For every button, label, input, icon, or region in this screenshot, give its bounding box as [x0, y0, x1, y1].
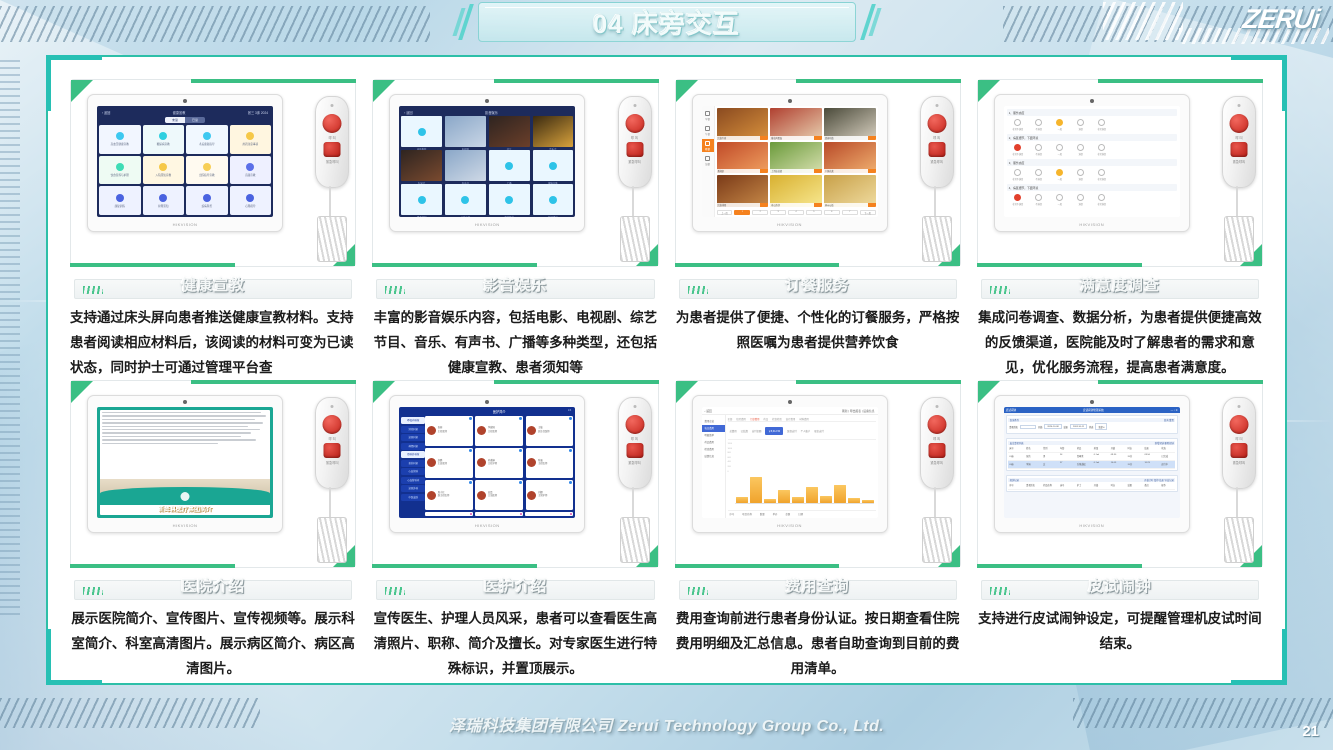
content-panel: ‹ 返回健康宣教张三 3床 2024 未读已读 高血压健康宣教 糖尿病宣教 术后…	[46, 55, 1287, 685]
handset-coil	[922, 216, 952, 262]
card-caption: 医院介绍	[70, 574, 356, 600]
handset-emergency-label: 紧急呼叫	[316, 460, 348, 465]
sidebar-item[interactable]: 费用总览	[702, 418, 725, 425]
dish-item[interactable]: 干锅花菜	[824, 142, 876, 174]
handset-emergency-label: 紧急呼叫	[619, 460, 651, 465]
tile[interactable]: 疾病科普	[186, 186, 228, 215]
survey-question: 3、服务态度	[1007, 159, 1177, 166]
handset-coil	[1224, 517, 1254, 563]
handset-call-label: 呼 叫	[316, 135, 348, 140]
meal-pager: 上一页 1 2 3 4 5 6 7 下一页	[717, 209, 876, 215]
card-description: 费用查询前进行患者身份认证。按日期查看住院费用明细及汇总信息。患者自助查询到目前…	[675, 606, 961, 681]
survey-option[interactable]: 非常不满意	[1011, 144, 1025, 156]
card-edge-top	[494, 380, 659, 384]
nurse-call-handset: 呼 叫 紧急呼叫	[315, 96, 349, 268]
tile[interactable]: 综艺	[489, 116, 530, 147]
handset-led-icon	[633, 405, 636, 408]
card-caption: 满意度调查	[977, 273, 1263, 299]
handset-cord	[1236, 487, 1238, 521]
survey-option[interactable]: 非常满意	[1095, 119, 1109, 131]
dish-item[interactable]: 清蒸时蔬	[824, 108, 876, 140]
device-brand: HIKVISION	[475, 222, 500, 227]
device-card: 皮试闹钟皮试闹钟管理系统— ▫ ✕ 查询条件查询 重置 患者姓名 开始2024-…	[977, 380, 1263, 568]
card-edge-top	[494, 79, 659, 83]
device-illustration: 新绛县医疗集团简介 HIKVISION 呼 叫 紧急呼叫	[81, 391, 345, 559]
handset-cord	[934, 487, 936, 521]
survey-option[interactable]: 不满意	[1032, 144, 1046, 156]
survey-options: 非常不满意 不满意 一般 满意 非常满意	[1007, 117, 1177, 134]
survey-options: 非常不满意 不满意 一般 满意 非常满意	[1007, 167, 1177, 184]
device-brand: HIKVISION	[777, 523, 802, 528]
handset-call-button[interactable]	[625, 415, 644, 434]
device-illustration: 早餐 午餐 晚餐 加餐 红烧牛肉 番茄鸡蛋面 清蒸时蔬	[686, 90, 950, 258]
survey-option[interactable]: 不满意	[1032, 169, 1046, 181]
device-illustration: ‹ 返回刷新 | 导出报表 | 设备信息 费用总览 每日费用 明细清单 药品费用…	[686, 391, 950, 559]
handset-led-icon	[1238, 104, 1241, 107]
tile[interactable]: 纪录片	[401, 150, 442, 181]
page-footer: 泽瑞科技集团有限公司 Zerui Technology Group Co., L…	[0, 686, 1333, 750]
tile[interactable]: 音频宣教	[230, 156, 272, 185]
hospital-intro-ui: 新绛县医疗集团简介	[97, 407, 273, 518]
card-caption: 费用查询	[675, 574, 961, 600]
sidebar-item[interactable]: 药品费用	[702, 439, 725, 446]
title-banner: 04 床旁交互	[452, 2, 882, 42]
health-education-ui: ‹ 返回健康宣教张三 3床 2024 未读已读 高血压健康宣教 糖尿病宣教 术后…	[97, 106, 273, 217]
pager-page[interactable]: 3	[770, 210, 786, 215]
pager-page[interactable]: 1	[734, 210, 750, 215]
handset-emergency-button[interactable]	[626, 142, 643, 157]
app-top-bar: ‹ 返回刷新 | 导出报表 | 设备信息	[702, 407, 878, 415]
card-caption-banner: 订餐服务	[675, 273, 961, 299]
handset-call-button[interactable]	[927, 415, 946, 434]
card-edge-bottom	[372, 564, 537, 568]
device-card: 1、服务态度 非常不满意 不满意 一般 满意 非常满意 2、病区细节，下面环境	[977, 79, 1263, 267]
pager-page[interactable]: 7	[842, 210, 858, 215]
card-description: 宣传医生、护理人员风采，患者可以查看医生高清照片、职称、简介及擅长。对专家医生进…	[372, 606, 658, 681]
device-brand: HIKVISION	[475, 523, 500, 528]
doctor-card[interactable]: 吴磊主治医师	[475, 480, 523, 510]
tile[interactable]: 儿童节目	[445, 184, 486, 215]
tile[interactable]: 用药注意事项	[230, 125, 272, 154]
device-card: 呼吸内科室 消化科室 泌尿科室 神经科室 骨科外科室 普外科室 心血管科 心血管…	[372, 380, 658, 568]
device-card: 早餐 午餐 晚餐 加餐 红烧牛肉 番茄鸡蛋面 清蒸时蔬	[675, 79, 961, 267]
hatch-stripe-left-edge	[0, 60, 20, 620]
handset-led-icon	[935, 405, 938, 408]
tile[interactable]: 有声书	[445, 150, 486, 181]
pager-page[interactable]: 2	[752, 210, 768, 215]
survey-option[interactable]: 非常不满意	[1011, 194, 1025, 206]
card-edge-bottom	[675, 564, 840, 568]
table-header-row: 序号患者姓名药品名称床号护士开始时长结果备注操作	[1008, 482, 1175, 490]
survey-option[interactable]: 满意	[1074, 194, 1088, 206]
dish-item[interactable]: 香辣虾	[717, 142, 769, 174]
dept-item[interactable]: 泌尿外科	[401, 485, 425, 492]
handset-emergency-button[interactable]	[324, 443, 341, 458]
meal-main: 红烧牛肉 番茄鸡蛋面 清蒸时蔬 香辣虾 上汤娃娃菜 干锅花菜 红烧排骨 南瓜浓汤	[715, 106, 878, 217]
survey-option[interactable]: 非常满意	[1095, 169, 1109, 181]
handset-cord	[632, 487, 634, 521]
card-edge-bottom	[977, 263, 1142, 267]
meal-sidebar: 早餐 午餐 晚餐 加餐	[702, 106, 715, 217]
pager-prev[interactable]: 上一页	[717, 210, 733, 215]
tablet-screen: 1、服务态度 非常不满意 不满意 一般 满意 非常满意 2、病区细节，下面环境	[1004, 106, 1180, 217]
device-illustration: 1、服务态度 非常不满意 不满意 一般 满意 非常满意 2、病区细节，下面环境	[988, 90, 1252, 258]
query-fields: 患者姓名 开始2024-10-08 结束2024-10-11 状态全部 ▾	[1008, 422, 1175, 432]
card-caption-banner: 费用查询	[675, 574, 961, 600]
handset-emergency-label: 紧急呼叫	[316, 159, 348, 164]
bedside-tablet: ‹ 返回影音娱乐 电影推荐 电视剧 综艺 音乐会 纪录片 有声书 广播 健康宣	[389, 94, 585, 232]
page-title: 04 床旁交互	[593, 4, 740, 41]
tile[interactable]: 电影推荐	[401, 116, 442, 147]
device-card: 新绛县医疗集团简介 HIKVISION 呼 叫 紧急呼叫	[70, 380, 356, 568]
card-description: 丰富的影音娱乐内容，包括电影、电视剧、综艺节目、音乐、有声书、广播等多种类型，还…	[372, 305, 658, 380]
education-tiles: 高血压健康宣教 糖尿病宣教 术后康复指导 用药注意事项 饮食营养与护理 入院须知…	[99, 125, 271, 215]
dish-item[interactable]: 红烧排骨	[717, 175, 769, 207]
sidebar-item[interactable]: 午餐	[702, 124, 714, 137]
handset-call-label: 呼 叫	[921, 436, 953, 441]
survey-option[interactable]: 满意	[1074, 119, 1088, 131]
nurse-call-handset: 呼 叫 紧急呼叫	[618, 96, 652, 268]
survey-option[interactable]: 满意	[1074, 169, 1088, 181]
pager-next[interactable]: 下一页	[860, 210, 876, 215]
tile[interactable]: 心理疏导	[230, 186, 272, 215]
nurse-call-handset: 呼 叫 紧急呼叫	[315, 397, 349, 569]
bedside-tablet: 新绛县医疗集团简介 HIKVISION	[87, 395, 283, 533]
tablet-screen: 新绛县医疗集团简介	[97, 407, 273, 518]
doctor-card[interactable]: 王敏副主任医师	[526, 416, 574, 446]
right-bracket-icon	[858, 4, 880, 40]
handset-led-icon	[331, 104, 334, 107]
tile[interactable]: 糖尿病宣教	[143, 125, 185, 154]
card-edge-top	[191, 79, 356, 83]
tile[interactable]: 健康宣教	[533, 150, 574, 181]
card-caption: 健康宣教	[70, 273, 356, 299]
window-title-bar: 皮试闹钟皮试闹钟管理系统— ▫ ✕	[1004, 407, 1180, 413]
cost-bar-chart: 120010008006004002000	[728, 440, 876, 510]
tablet-screen: 早餐 午餐 晚餐 加餐 红烧牛肉 番茄鸡蛋面 清蒸时蔬	[702, 106, 878, 217]
tablet-screen: 呼吸内科室 消化科室 泌尿科室 神经科室 骨科外科室 普外科室 心血管科 心血管…	[399, 407, 575, 518]
end-date-field[interactable]: 2024-10-11	[1070, 424, 1087, 429]
skin-test-alarm-ui: 皮试闹钟皮试闹钟管理系统— ▫ ✕ 查询条件查询 重置 患者姓名 开始2024-…	[1004, 407, 1180, 518]
card-caption: 皮试闹钟	[977, 574, 1263, 600]
doctor-card[interactable]: 陈强主任医师	[526, 448, 574, 478]
handset-coil	[620, 216, 650, 262]
survey-options: 非常不满意 不满意 一般 满意 非常满意	[1007, 142, 1177, 159]
bedside-tablet: 呼吸内科室 消化科室 泌尿科室 神经科室 骨科外科室 普外科室 心血管科 心血管…	[389, 395, 585, 533]
camera-icon	[485, 99, 489, 103]
logo-hatch-left	[1103, 2, 1183, 40]
handset-coil	[317, 517, 347, 563]
card-description: 为患者提供了便捷、个性化的订餐服务，严格按照医嘱为患者提供营养饮食	[675, 305, 961, 355]
handset-emergency-button[interactable]	[324, 142, 341, 157]
table-header-row: 床号姓名性别年龄药品剂量开始时长结束状态	[1008, 445, 1175, 453]
query-section: 查询条件查询 重置 患者姓名 开始2024-10-08 结束2024-10-11…	[1006, 415, 1178, 434]
tile[interactable]: 护理须知	[143, 186, 185, 215]
handset-emergency-button[interactable]	[928, 443, 945, 458]
sidebar-item[interactable]: 结算信息	[702, 453, 725, 460]
tile[interactable]: 患者须知	[401, 184, 442, 215]
card-edge-top	[1098, 380, 1263, 384]
handset-led-icon	[633, 104, 636, 107]
tile[interactable]: 康复训练	[99, 186, 141, 215]
tile[interactable]: 戏曲频道	[489, 184, 530, 215]
handset-call-label: 呼 叫	[1223, 135, 1255, 140]
card-edge-bottom	[70, 564, 235, 568]
tile[interactable]: 术后康复指导	[186, 125, 228, 154]
company-name: 泽瑞科技集团有限公司 Zerui Technology Group Co., L…	[449, 712, 884, 736]
device-brand: HIKVISION	[777, 222, 802, 227]
handset-call-label: 呼 叫	[921, 135, 953, 140]
card-caption: 影音娱乐	[372, 273, 658, 299]
handset-emergency-button[interactable]	[1231, 443, 1248, 458]
app-top-bar: ‹ 返回影音娱乐	[401, 108, 573, 116]
card-edge-bottom	[70, 263, 235, 267]
device-card: ‹ 返回影音娱乐 电影推荐 电视剧 综艺 音乐会 纪录片 有声书 广播 健康宣	[372, 79, 658, 267]
handset-call-label: 呼 叫	[619, 135, 651, 140]
chart-y-labels: 120010008006004002000	[728, 442, 732, 474]
tablet-screen: ‹ 返回刷新 | 导出报表 | 设备信息 费用总览 每日费用 明细清单 药品费用…	[702, 407, 878, 518]
card-caption-banner: 医院介绍	[70, 574, 356, 600]
sidebar-item[interactable]: 检查费用	[702, 446, 725, 453]
device-brand: HIKVISION	[173, 222, 198, 227]
satisfaction-survey-ui: 1、服务态度 非常不满意 不满意 一般 满意 非常满意 2、病区细节，下面环境	[1004, 106, 1180, 217]
feature-cell-health-education: ‹ 返回健康宣教张三 3床 2024 未读已读 高血压健康宣教 糖尿病宣教 术后…	[62, 79, 364, 380]
department-sidebar: 呼吸内科室 消化科室 泌尿科室 神经科室 骨科外科室 普外科室 心血管科 心血管…	[401, 409, 425, 516]
chart-axis	[735, 503, 874, 504]
dish-item[interactable]: 番茄鸡蛋面	[770, 108, 822, 140]
dept-item[interactable]: 普外科室	[401, 460, 425, 467]
nurse-call-handset: 呼 叫 紧急呼叫	[1222, 96, 1256, 268]
camera-icon	[1090, 400, 1094, 404]
card-edge-bottom	[977, 564, 1142, 568]
card-caption-banner: 满意度调查	[977, 273, 1263, 299]
pager-page[interactable]: 6	[824, 210, 840, 215]
pager-page[interactable]: 4	[788, 210, 804, 215]
handset-led-icon	[331, 405, 334, 408]
tile[interactable]: 高血压健康宣教	[99, 125, 141, 154]
dept-item[interactable]: 神经科室	[401, 443, 425, 450]
survey-option[interactable]: 不满意	[1032, 194, 1046, 206]
bedside-tablet: 皮试闹钟皮试闹钟管理系统— ▫ ✕ 查询条件查询 重置 患者姓名 开始2024-…	[994, 395, 1190, 533]
device-illustration: ‹ 返回影音娱乐 电影推荐 电视剧 综艺 音乐会 纪录片 有声书 广播 健康宣	[383, 90, 647, 258]
camera-icon	[183, 400, 187, 404]
dept-item[interactable]: 骨科外科室	[401, 451, 425, 458]
camera-icon	[485, 400, 489, 404]
status-select[interactable]: 全部 ▾	[1095, 423, 1107, 430]
survey-option[interactable]: 非常不满意	[1011, 119, 1025, 131]
page-number: 21	[1302, 723, 1319, 740]
tablet-screen: ‹ 返回健康宣教张三 3床 2024 未读已读 高血压健康宣教 糖尿病宣教 术后…	[97, 106, 273, 217]
app-top-bar: ‹ 返回健康宣教张三 3床 2024	[99, 108, 271, 117]
survey-option[interactable]: 非常满意	[1095, 194, 1109, 206]
hospital-logo-icon	[181, 492, 190, 501]
dish-item[interactable]: 扬州炒饭	[824, 175, 876, 207]
doctor-cards: 张丽主任医师 李建国主任医师 王敏副主任医师 赵鹏主治医师 孙雅婷主任护师 陈强…	[425, 416, 573, 510]
handset-cord	[329, 186, 331, 220]
patient-name-input[interactable]	[1020, 425, 1036, 429]
dish-item[interactable]: 红烧牛肉	[717, 108, 769, 140]
media-tiles: 电影推荐 电视剧 综艺 音乐会 纪录片 有声书 广播 健康宣教 患者须知 儿	[401, 116, 573, 215]
handset-call-button[interactable]	[1230, 415, 1249, 434]
card-caption: 订餐服务	[675, 273, 961, 299]
staff-intro-ui: 呼吸内科室 消化科室 泌尿科室 神经科室 骨科外科室 普外科室 心血管科 心血管…	[399, 407, 575, 518]
feature-cell-cost-query: ‹ 返回刷新 | 导出报表 | 设备信息 费用总览 每日费用 明细清单 药品费用…	[667, 380, 969, 681]
sidebar-item[interactable]: 早餐	[702, 109, 714, 122]
tile[interactable]: 出院指导宣教	[186, 156, 228, 185]
device-brand: HIKVISION	[1079, 222, 1104, 227]
tile[interactable]: 新闻资讯	[533, 184, 574, 215]
card-caption-banner: 皮试闹钟	[977, 574, 1263, 600]
handset-cord	[934, 186, 936, 220]
feature-cell-staff-intro: 呼吸内科室 消化科室 泌尿科室 神经科室 骨科外科室 普外科室 心血管科 心血管…	[364, 380, 666, 681]
tile[interactable]: 电视剧	[445, 116, 486, 147]
table-row[interactable]: 01床张伟男54青霉素0.1ml09:3020分09:50已完成	[1008, 453, 1175, 461]
nurse-call-handset: 呼 叫 紧急呼叫	[920, 96, 954, 268]
handset-call-label: 呼 叫	[619, 436, 651, 441]
feature-cell-satisfaction-survey: 1、服务态度 非常不满意 不满意 一般 满意 非常满意 2、病区细节，下面环境	[969, 79, 1271, 380]
dish-item[interactable]: 南瓜浓汤	[770, 175, 822, 207]
handset-emergency-button[interactable]	[626, 443, 643, 458]
sidebar-item[interactable]: 晚餐	[702, 139, 714, 152]
card-edge-bottom	[675, 263, 840, 267]
handset-emergency-label: 紧急呼叫	[1223, 159, 1255, 164]
tile[interactable]: 入院须知宣教	[143, 156, 185, 185]
cost-main: 全部住院费用门诊费用药品检查检验治疗费用材料费用 总费用已结算自付金额 ￥8,6…	[726, 415, 878, 518]
device-illustration: 呼吸内科室 消化科室 泌尿科室 神经科室 骨科外科室 普外科室 心血管科 心血管…	[383, 391, 647, 559]
card-caption-banner: 医护介绍	[372, 574, 658, 600]
survey-option[interactable]: 一般	[1053, 144, 1067, 156]
page-header: 04 床旁交互 ZERUi	[0, 0, 1333, 46]
handset-cord	[1236, 186, 1238, 220]
segment-control[interactable]: 未读已读	[165, 117, 205, 123]
doctor-card[interactable]: 刘娜主管护师	[526, 480, 574, 510]
dept-item[interactable]: 心血管科	[401, 468, 425, 475]
feature-cell-meal-ordering: 早餐 午餐 晚餐 加餐 红烧牛肉 番茄鸡蛋面 清蒸时蔬	[667, 79, 969, 380]
left-bracket-icon	[454, 4, 476, 40]
survey-option[interactable]: 一般	[1053, 119, 1067, 131]
feature-cell-skin-test-alarm: 皮试闹钟皮试闹钟管理系统— ▫ ✕ 查询条件查询 重置 患者姓名 开始2024-…	[969, 380, 1271, 681]
nurse-call-handset: 呼 叫 紧急呼叫	[1222, 397, 1256, 569]
doctor-card[interactable]: 周小红副主任医师	[425, 480, 473, 510]
survey-option[interactable]: 一般	[1053, 169, 1067, 181]
survey-option[interactable]: 一般	[1053, 194, 1067, 206]
bedside-tablet: 早餐 午餐 晚餐 加餐 红烧牛肉 番茄鸡蛋面 清蒸时蔬	[692, 94, 888, 232]
handset-emergency-button[interactable]	[1231, 142, 1248, 157]
tile[interactable]: 饮食营养与护理	[99, 156, 141, 185]
doctor-card[interactable]: 张丽主任医师	[425, 416, 473, 446]
staff-title: 医护简介1/3	[425, 409, 573, 416]
handset-call-label: 呼 叫	[1223, 436, 1255, 441]
handset-call-button[interactable]	[625, 114, 644, 133]
dept-item[interactable]: 消化科室	[401, 426, 425, 433]
dept-item[interactable]: 心血管科内	[401, 477, 425, 484]
dept-item[interactable]: 泌尿科室	[401, 434, 425, 441]
handset-coil	[1224, 216, 1254, 262]
alarm-record-section: 闹钟记录开始计时 暂停 结束 导出记录 序号患者姓名药品名称床号护士开始时长结果…	[1006, 475, 1178, 492]
handset-call-button[interactable]	[1230, 114, 1249, 133]
cost-query-ui: ‹ 返回刷新 | 导出报表 | 设备信息 费用总览 每日费用 明细清单 药品费用…	[702, 407, 878, 518]
feature-grid: ‹ 返回健康宣教张三 3床 2024 未读已读 高血压健康宣教 糖尿病宣教 术后…	[48, 57, 1285, 683]
cost-table-header: 序号项目名称数量单价金额日期	[728, 510, 876, 516]
handset-call-label: 呼 叫	[316, 436, 348, 441]
nurse-call-handset: 呼 叫 紧急呼叫	[920, 397, 954, 569]
handset-coil	[317, 216, 347, 262]
device-illustration: 皮试闹钟皮试闹钟管理系统— ▫ ✕ 查询条件查询 重置 患者姓名 开始2024-…	[988, 391, 1252, 559]
handset-emergency-button[interactable]	[928, 142, 945, 157]
card-description: 支持进行皮试闹钟设定，可提醒管理机皮试时间结束。	[977, 606, 1263, 656]
brand-logo: ZERUi	[1241, 4, 1321, 35]
progress-bars	[425, 512, 573, 516]
card-edge-top	[1098, 79, 1263, 83]
feature-cell-media-entertainment: ‹ 返回影音娱乐 电影推荐 电视剧 综艺 音乐会 纪录片 有声书 广播 健康宣	[364, 79, 666, 380]
device-brand: HIKVISION	[173, 523, 198, 528]
handset-cord	[632, 186, 634, 220]
staff-main: 医护简介1/3 张丽主任医师 李建国主任医师 王敏副主任医师 赵鹏主治医师 孙雅…	[425, 409, 573, 516]
device-illustration: ‹ 返回健康宣教张三 3床 2024 未读已读 高血压健康宣教 糖尿病宣教 术后…	[81, 90, 345, 258]
pager-page[interactable]: 5	[806, 210, 822, 215]
camera-icon	[788, 99, 792, 103]
card-edge-top	[796, 380, 961, 384]
dept-item[interactable]: 呼吸内科室	[401, 417, 425, 424]
survey-option[interactable]: 非常满意	[1095, 144, 1109, 156]
handset-call-button[interactable]	[323, 415, 342, 434]
survey-option[interactable]: 不满意	[1032, 119, 1046, 131]
sidebar-item[interactable]: 每日费用	[702, 425, 725, 432]
survey-question: 4、病区细节，下面环境	[1007, 184, 1177, 191]
bedside-tablet: ‹ 返回刷新 | 导出报表 | 设备信息 费用总览 每日费用 明细清单 药品费用…	[692, 395, 888, 533]
handset-cord	[329, 487, 331, 521]
tablet-screen: ‹ 返回影音娱乐 电影推荐 电视剧 综艺 音乐会 纪录片 有声书 广播 健康宣	[399, 106, 575, 217]
dept-item[interactable]: 中医皮肤	[401, 494, 425, 501]
handset-call-button[interactable]	[927, 114, 946, 133]
survey-question: 1、服务态度	[1007, 109, 1177, 116]
bedside-tablet: ‹ 返回健康宣教张三 3床 2024 未读已读 高血压健康宣教 糖尿病宣教 术后…	[87, 94, 283, 232]
intro-sheet: 新绛县医疗集团简介	[100, 410, 270, 515]
card-edge-top	[796, 79, 961, 83]
card-caption-banner: 健康宣教	[70, 273, 356, 299]
sidebar-item[interactable]: 明细清单	[702, 432, 725, 439]
tile[interactable]: 广播	[489, 150, 530, 181]
handset-coil	[922, 517, 952, 563]
card-description: 集成问卷调查、数据分析，为患者提供便捷高效的反馈渠道，医院能及时了解患者的需求和…	[977, 305, 1263, 380]
dish-item[interactable]: 上汤娃娃菜	[770, 142, 822, 174]
handset-led-icon	[935, 104, 938, 107]
device-card: ‹ 返回健康宣教张三 3床 2024 未读已读 高血压健康宣教 糖尿病宣教 术后…	[70, 79, 356, 267]
handset-emergency-label: 紧急呼叫	[921, 460, 953, 465]
survey-option[interactable]: 非常不满意	[1011, 169, 1025, 181]
device-card: ‹ 返回刷新 | 导出报表 | 设备信息 费用总览 每日费用 明细清单 药品费用…	[675, 380, 961, 568]
handset-emergency-label: 紧急呼叫	[921, 159, 953, 164]
dish-grid: 红烧牛肉 番茄鸡蛋面 清蒸时蔬 香辣虾 上汤娃娃菜 干锅花菜 红烧排骨 南瓜浓汤	[717, 108, 876, 207]
card-caption: 医护介绍	[372, 574, 658, 600]
doctor-card[interactable]: 李建国主任医师	[475, 416, 523, 446]
doctor-card[interactable]: 孙雅婷主任护师	[475, 448, 523, 478]
hospital-name: 新绛县医疗集团简介	[100, 504, 270, 513]
handset-call-button[interactable]	[323, 114, 342, 133]
bedside-tablet: 1、服务态度 非常不满意 不满意 一般 满意 非常满意 2、病区细节，下面环境	[994, 94, 1190, 232]
doctor-card[interactable]: 赵鹏主治医师	[425, 448, 473, 478]
sidebar-item[interactable]: 加餐	[702, 154, 714, 167]
card-edge-top	[191, 380, 356, 384]
survey-option[interactable]: 满意	[1074, 144, 1088, 156]
table-row[interactable]: 03床李娟女37头孢曲松0.1ml10:0520分10:25进行中	[1008, 461, 1175, 469]
card-edge-bottom	[372, 263, 537, 267]
start-date-field[interactable]: 2024-10-08	[1044, 424, 1061, 429]
tile[interactable]: 音乐会	[533, 116, 574, 147]
patient-list-section: 皮试患者列表新增闹钟 删除闹钟 床号姓名性别年龄药品剂量开始时长结束状态 01床…	[1006, 438, 1178, 471]
handset-coil	[620, 517, 650, 563]
camera-icon	[1090, 99, 1094, 103]
